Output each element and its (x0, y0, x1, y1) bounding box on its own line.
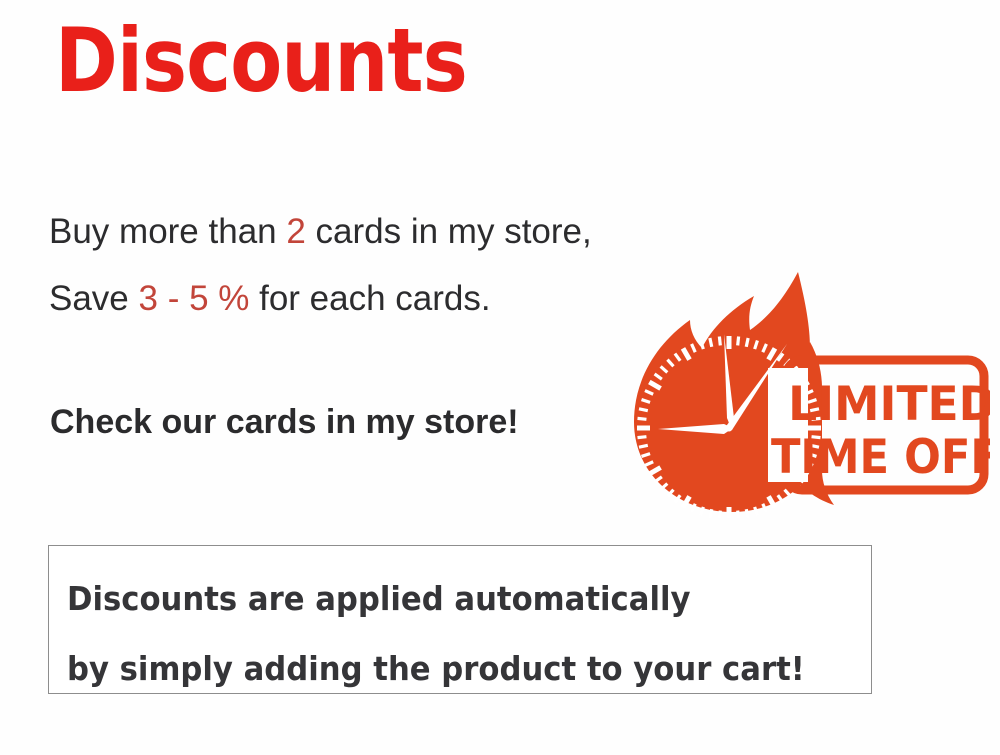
auto-discount-note-line-1: Discounts are applied automatically (67, 564, 805, 634)
clock-tick (738, 511, 739, 518)
offer-quantity-value: 2 (286, 212, 305, 251)
clock-tick (638, 437, 647, 438)
clock-tick (639, 409, 648, 411)
clock-tick (746, 509, 748, 518)
limited-time-offer-badge: LIMITED TIME OFFER (598, 268, 990, 518)
clock-tick (719, 337, 720, 346)
auto-discount-note-line-2: by simply adding the product to your car… (67, 634, 805, 704)
badge-line-time-offer: TIME OFFER (771, 429, 990, 484)
clock-tick (692, 504, 696, 512)
offer-line-quantity-prefix: Buy more than (49, 212, 286, 251)
auto-discount-note: Discounts are applied automatically by s… (48, 545, 872, 694)
clock-tick (710, 338, 712, 347)
store-call-to-action: Check our cards in my store! (50, 400, 519, 444)
badge-line-limited: LIMITED (788, 376, 990, 431)
offer-savings-value: 3 - 5 % (139, 279, 250, 318)
discount-promo-banner: Discounts Buy more than 2 cards in my st… (0, 0, 1000, 755)
clock-tick (638, 418, 647, 419)
offer-line-savings-suffix: for each cards. (249, 279, 490, 318)
clock-tick (738, 337, 739, 346)
offer-line-savings-prefix: Save (49, 279, 139, 318)
clock-tick (719, 511, 720, 518)
offer-line-quantity: Buy more than 2 cards in my store, (49, 198, 669, 265)
offer-line-quantity-suffix: cards in my store, (306, 212, 592, 251)
clock-tick (746, 338, 748, 347)
flame-clock-icon: LIMITED TIME OFFER (598, 268, 990, 518)
offer-plate: LIMITED TIME OFFER (768, 360, 990, 490)
offer-line-savings: Save 3 - 5 % for each cards. (49, 265, 669, 332)
clock-tick (639, 445, 648, 447)
clock-tick (701, 507, 704, 516)
clock-tick (710, 509, 712, 518)
offer-description: Buy more than 2 cards in my store, Save … (49, 198, 669, 332)
page-title: Discounts (55, 17, 467, 105)
